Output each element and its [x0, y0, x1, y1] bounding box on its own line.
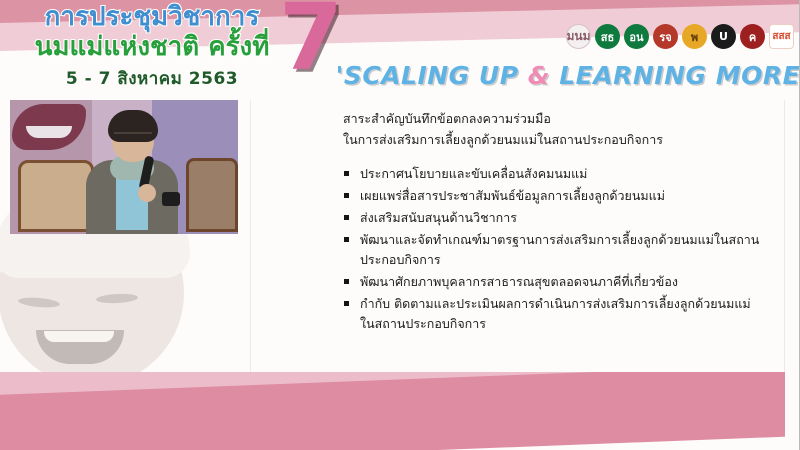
conference-title-line-1: การประชุมวิชาการ	[16, 2, 288, 32]
watermark-teeth	[44, 331, 114, 342]
list-item: ประกาศนโยบายและขับเคลื่อนสังคมนมแม่	[343, 164, 763, 184]
bullet-text: ส่งเสริมสนับสนุนด้านวิชาการ	[360, 210, 517, 225]
square-bullet-icon	[344, 193, 349, 198]
content-lead-line-1: สาระสำคัญบันทึกข้อตกลงความร่วมมือ	[343, 108, 763, 129]
bullet-text: เผยแพร่สื่อสารประชาสัมพันธ์ข้อมูลการเลี้…	[360, 188, 665, 203]
tagline-part-close: LEARNING MORE'	[550, 61, 800, 90]
footer-decorative-bands	[0, 372, 800, 450]
presentation-clicker	[162, 192, 180, 206]
tagline-part-open: 'SCALING UP	[336, 61, 528, 90]
department-of-health-logo: อน	[624, 24, 649, 49]
bullet-text: พัฒนาและจัดทำเกณฑ์มาตรฐานการส่งเสริมการเ…	[360, 232, 759, 267]
list-item: เผยแพร่สื่อสารประชาสัมพันธ์ข้อมูลการเลี้…	[343, 186, 763, 206]
video-chair-left	[18, 160, 94, 232]
square-bullet-icon	[344, 215, 349, 220]
slide-content-panel: สาระสำคัญบันทึกข้อตกลงความร่วมมือ ในการส…	[250, 100, 785, 400]
conference-date: 5 - 7 สิงหาคม 2563	[16, 65, 288, 92]
content-lead-line-2: ในการส่งเสริมการเลี้ยงลูกด้วยนมแม่ในสถาน…	[343, 129, 763, 150]
ministry-of-public-health-logo: สธ	[595, 24, 620, 49]
bullet-text: กำกับ ติดตามและประเมินผลการดำเนินการส่งเ…	[360, 296, 751, 331]
tagline-ampersand: &	[528, 61, 550, 90]
right-margin-strip	[785, 96, 800, 450]
conference-tagline: 'SCALING UP & LEARNING MORE'	[360, 57, 784, 93]
content-bullet-list: ประกาศนโยบายและขับเคลื่อนสังคมนมแม่ เผยแ…	[343, 164, 763, 334]
list-item: พัฒนาและจัดทำเกณฑ์มาตรฐานการส่งเสริมการเ…	[343, 230, 763, 270]
video-chair-right	[186, 158, 238, 232]
presentation-slide: การประชุมวิชาการ นมแม่แห่งชาติ ครั้งที่ …	[0, 0, 800, 450]
conference-title-block: การประชุมวิชาการ นมแม่แห่งชาติ ครั้งที่ …	[16, 2, 288, 92]
square-bullet-icon	[344, 171, 349, 176]
thaihealth-sss-logo: สสส	[769, 24, 794, 49]
royal-emblem-logo: พ	[682, 24, 707, 49]
conference-title-line-2: นมแม่แห่งชาติ ครั้งที่	[16, 32, 288, 62]
slide-content-inner: สาระสำคัญบันทึกข้อตกลงความร่วมมือ ในการส…	[343, 108, 763, 336]
royal-college-logo: รจ	[653, 24, 678, 49]
garuda-emblem-logo: ค	[740, 24, 765, 49]
list-item: ส่งเสริมสนับสนุนด้านวิชาการ	[343, 208, 763, 228]
speaker-glasses	[114, 132, 152, 140]
square-bullet-icon	[344, 301, 349, 306]
sponsor-logo-row: มนม สธ อน รจ พ U ค สสส	[566, 24, 794, 49]
edition-number-seven: 7	[279, 0, 343, 84]
square-bullet-icon	[344, 237, 349, 242]
thai-breastfeeding-foundation-logo: มนม	[566, 24, 591, 49]
list-item: กำกับ ติดตามและประเมินผลการดำเนินการส่งเ…	[343, 294, 763, 334]
speaker-video-inset[interactable]	[10, 100, 238, 234]
square-bullet-icon	[344, 279, 349, 284]
list-item: พัฒนาศักยภาพบุคลากรสาธารณสุขตลอดจนภาคีที…	[343, 272, 763, 292]
video-backdrop-teeth-graphic	[26, 126, 72, 138]
bullet-text: พัฒนาศักยภาพบุคลากรสาธารณสุขตลอดจนภาคีที…	[360, 274, 678, 289]
bullet-text: ประกาศนโยบายและขับเคลื่อนสังคมนมแม่	[360, 166, 587, 181]
speaker-hand	[138, 184, 156, 202]
unicef-thailand-logo: U	[711, 24, 736, 49]
tagline-text: 'SCALING UP & LEARNING MORE'	[336, 61, 800, 90]
